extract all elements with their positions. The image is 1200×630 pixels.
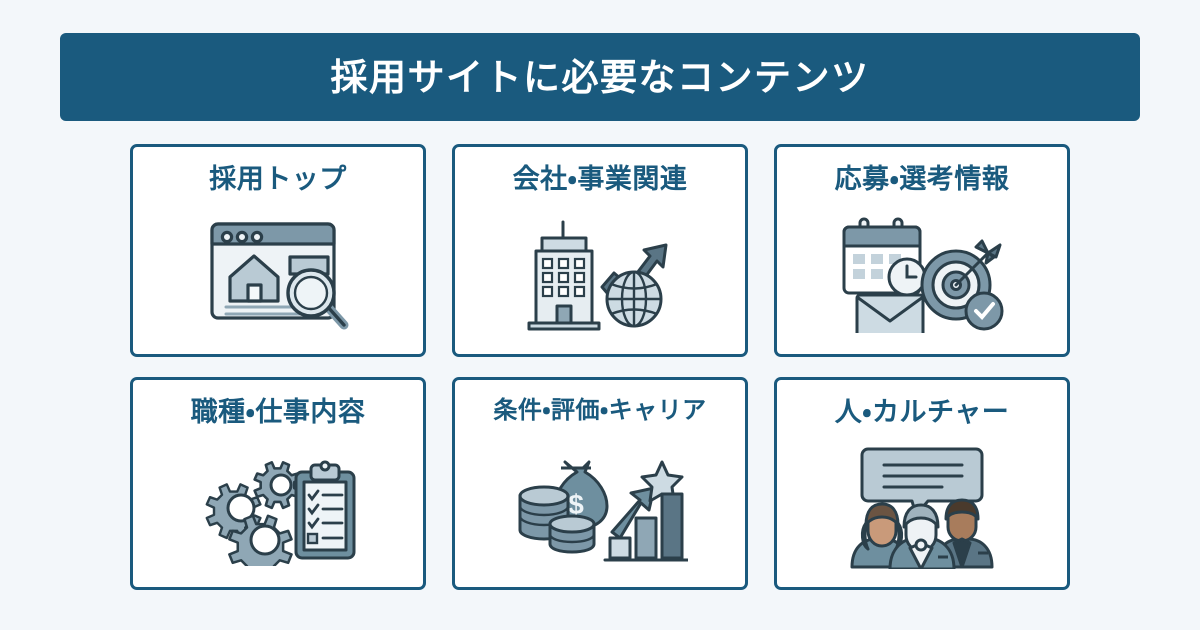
infographic-page: 採用サイトに必要なコンテンツ 採用トップ [0,0,1200,630]
content-card-grid: 採用トップ [130,144,1070,590]
card-title-job-type-content: 職種・仕事内容 [191,398,366,428]
card-title-recruit-top: 採用トップ [209,165,347,195]
page-title: 採用サイトに必要なコンテンツ [331,59,870,96]
card-people-culture[interactable]: 人・カルチャー [774,377,1070,590]
browser-window-house-magnifier-icon [133,195,423,354]
card-title-conditions-evaluation-career: 条件・評価・キャリア [493,398,706,424]
speech-bubble-people-group-icon [777,428,1067,587]
card-application-selection[interactable]: 応募・選考情報 [774,144,1070,357]
card-title-company-business: 会社・事業関連 [513,165,688,195]
card-conditions-evaluation-career[interactable]: 条件・評価・キャリア $ [452,377,748,590]
calendar-clock-envelope-target-icon [777,195,1067,354]
gears-clipboard-checklist-icon [133,428,423,587]
coins-moneybag-bar-chart-star-icon: $ [455,424,745,587]
card-recruit-top[interactable]: 採用トップ [130,144,426,357]
card-title-people-culture: 人・カルチャー [835,398,1009,428]
card-title-application-selection: 応募・選考情報 [835,165,1010,195]
card-job-type-content[interactable]: 職種・仕事内容 [130,377,426,590]
card-company-business[interactable]: 会社・事業関連 [452,144,748,357]
office-building-growth-arrow-globe-icon [455,195,745,354]
header-banner: 採用サイトに必要なコンテンツ [60,33,1140,121]
